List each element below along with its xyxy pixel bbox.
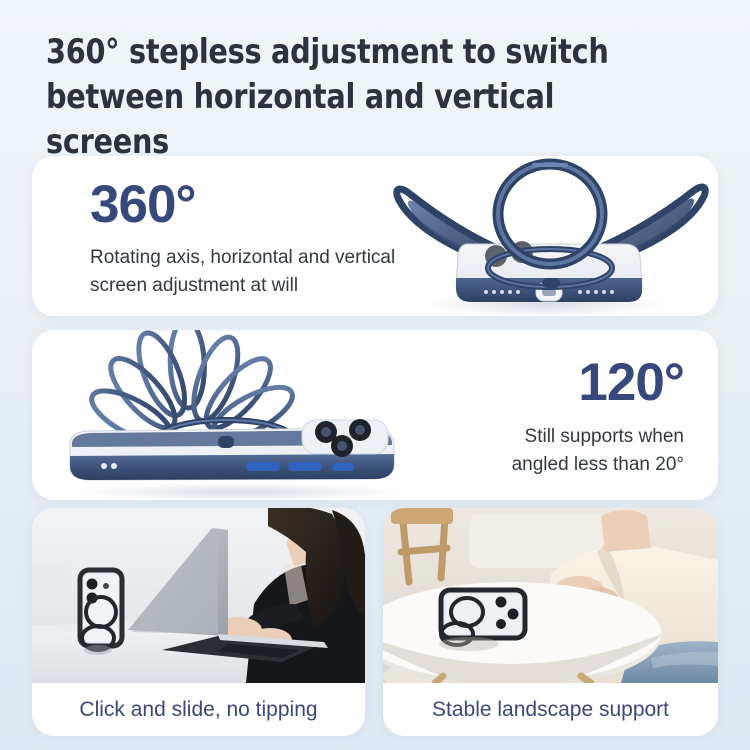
- headline-line-1: 360° stepless adjustment to switch: [46, 30, 666, 75]
- photo-card-desk-laptop: Click and slide, no tipping: [32, 508, 365, 736]
- feature-value-360: 360°: [90, 178, 395, 231]
- photo-caption-desk-laptop: Click and slide, no tipping: [32, 683, 365, 736]
- photo-desk-laptop: [32, 508, 365, 683]
- illustration-ring-stand-raised: [376, 156, 716, 316]
- feature-value-120: 120°: [512, 356, 684, 409]
- feature-text-angle: 120° Still supports when angled less tha…: [512, 356, 684, 478]
- page-background: 360° stepless adjustment to switch betwe…: [0, 0, 750, 750]
- page-title: 360° stepless adjustment to switch betwe…: [46, 30, 666, 166]
- feature-description-rotation: Rotating axis, horizontal and vertical s…: [90, 244, 395, 299]
- headline-line-2: between horizontal and vertical screens: [46, 75, 666, 165]
- feature-card-angle: 20°: [32, 330, 718, 500]
- photo-card-table-landscape: Stable landscape support: [383, 508, 718, 736]
- feature-card-rotation: 360° Rotating axis, horizontal and verti…: [32, 156, 718, 316]
- feature-text-rotation: 360° Rotating axis, horizontal and verti…: [90, 178, 395, 299]
- feature-description-angle: Still supports when angled less than 20°: [512, 423, 684, 478]
- illustration-ring-stand-fanned: 20°: [40, 330, 440, 500]
- photo-caption-table-landscape: Stable landscape support: [383, 683, 718, 736]
- photo-table-landscape: [383, 508, 718, 683]
